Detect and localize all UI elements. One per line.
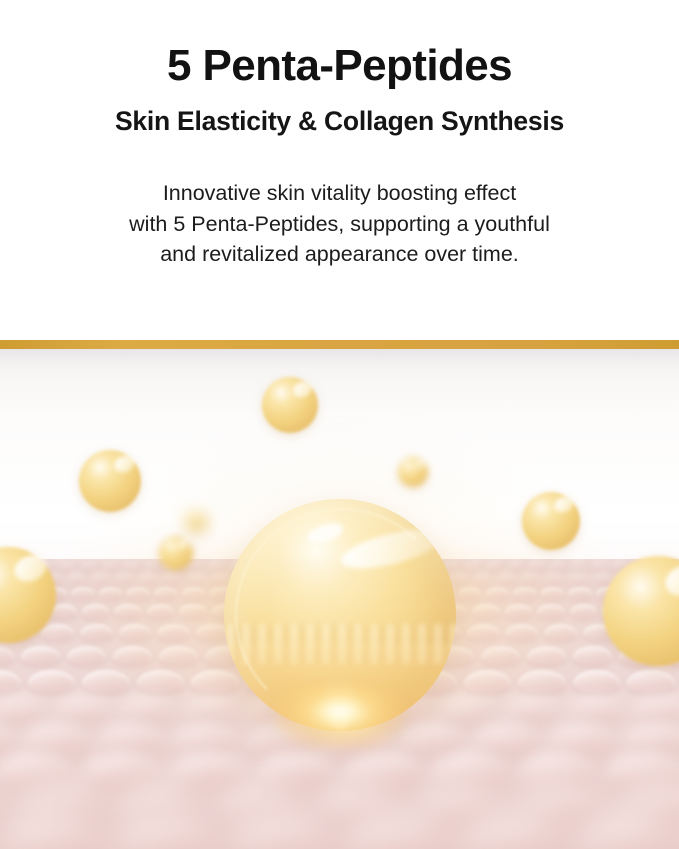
skin-cell (82, 604, 110, 617)
skin-cell (114, 604, 142, 617)
skin-cell (115, 817, 219, 849)
skin-cell (41, 624, 74, 640)
skin-cell (157, 624, 190, 640)
skin-cell (481, 646, 521, 665)
gold-divider-bar (0, 340, 679, 349)
hero-contact-glow (275, 685, 405, 749)
skin-cell (573, 670, 620, 693)
skin-cell (504, 696, 560, 723)
header-section: 5 Penta-Peptides Skin Elasticity & Colla… (0, 0, 679, 340)
skin-cell (575, 817, 679, 849)
skin-cell (527, 562, 546, 571)
skin-cell (82, 670, 129, 693)
droplet-left-small (159, 536, 193, 570)
skin-cell (472, 604, 500, 617)
skin-cell (119, 624, 152, 640)
skin-cell (79, 562, 98, 571)
page-title: 5 Penta-Peptides (28, 0, 651, 90)
description-text: Innovative skin vitality boosting effect… (28, 138, 651, 270)
skin-cell (568, 573, 588, 583)
skin-cell (527, 646, 567, 665)
skin-cell (506, 562, 525, 571)
skin-cell (570, 562, 589, 571)
skin-cell (100, 562, 119, 571)
skin-cell (505, 624, 538, 640)
skin-cell (473, 573, 493, 583)
skin-cell (28, 670, 75, 693)
skin-cell (67, 646, 107, 665)
droplet-mid-right-small (398, 457, 428, 487)
skin-cell (518, 670, 565, 693)
skin-cell (0, 724, 14, 756)
skin-cell (544, 624, 577, 640)
hero-image: Golden serum droplets resting on a pink … (0, 349, 679, 849)
skin-cell (520, 573, 540, 583)
skin-cell (98, 724, 164, 756)
skin-cell (0, 646, 14, 665)
skin-cell (458, 587, 481, 599)
skin-cell (541, 587, 564, 599)
skin-cell (513, 587, 536, 599)
skin-cell (591, 562, 610, 571)
skin-cell (67, 573, 87, 583)
skin-cell (486, 587, 509, 599)
skin-cell (0, 696, 47, 723)
skin-cell (91, 573, 111, 583)
page-subtitle: Skin Elasticity & Collagen Synthesis (28, 90, 651, 138)
skin-cell (573, 646, 613, 665)
hero-droplet (224, 499, 456, 731)
droplet-right-upper (522, 492, 580, 550)
skin-cell (230, 817, 334, 849)
skin-cell (143, 562, 162, 571)
skin-cell (463, 562, 482, 571)
skin-cell (484, 562, 503, 571)
skin-cell (119, 696, 175, 723)
droplet-top-center (262, 377, 318, 433)
skin-cell (162, 573, 182, 583)
skin-cell (467, 624, 500, 640)
skin-cell (464, 670, 511, 693)
skin-cell (548, 724, 614, 756)
skin-cell (345, 817, 449, 849)
skin-cell (568, 587, 591, 599)
skin-cell (21, 646, 61, 665)
skin-cell (121, 562, 140, 571)
skin-cell (473, 724, 539, 756)
skin-cell (154, 587, 177, 599)
product-infographic-page: 5 Penta-Peptides Skin Elasticity & Colla… (0, 0, 679, 849)
skin-cell (544, 573, 564, 583)
skin-cell-row (0, 817, 679, 849)
skin-cell (57, 562, 76, 571)
description-line-2: with 5 Penta-Peptides, supporting a yout… (28, 209, 651, 240)
skin-cell (592, 573, 612, 583)
skin-cell (80, 624, 113, 640)
skin-cell (22, 724, 88, 756)
skin-cell (570, 604, 598, 617)
droplet-center-left-far (185, 510, 207, 532)
skin-cell (126, 587, 149, 599)
skin-cell (113, 646, 153, 665)
skin-cell (505, 604, 533, 617)
skin-cell (99, 587, 122, 599)
skin-cell (138, 573, 158, 583)
skin-cell (537, 604, 565, 617)
skin-cell (496, 573, 516, 583)
droplet-upper-left (79, 450, 141, 512)
skin-cell (179, 604, 207, 617)
skin-cell (460, 817, 564, 849)
skin-cell (623, 724, 679, 756)
skin-cell (182, 587, 205, 599)
skin-cell (147, 604, 175, 617)
skin-cell (55, 696, 111, 723)
skin-cell (137, 670, 184, 693)
skin-cell (114, 573, 134, 583)
skin-cell (627, 670, 674, 693)
skin-cell (186, 573, 206, 583)
skin-cell (159, 646, 199, 665)
skin-cell (548, 562, 567, 571)
skin-cell (632, 696, 679, 723)
description-line-1: Innovative skin vitality boosting effect (28, 178, 651, 209)
description-line-3: and revitalized appearance over time. (28, 239, 651, 270)
skin-cell (568, 696, 624, 723)
skin-cell (0, 670, 21, 693)
skin-cell (0, 817, 104, 849)
skin-cell (71, 587, 94, 599)
